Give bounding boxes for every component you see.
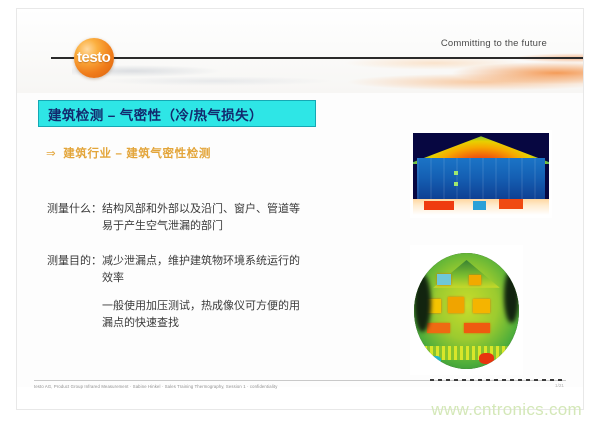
slide-content: 建筑检测 – 气密性（冷/热气损失） ⇒建筑行业 – 建筑气密性检测 测量什么：… <box>17 93 583 387</box>
paragraph-label: 测量什么： <box>47 203 102 215</box>
thermal-edge-shadow-left <box>414 274 431 332</box>
slide-subtitle-text: 建筑行业 – 建筑气密性检测 <box>63 148 211 160</box>
slide-title: 建筑检测 – 气密性（冷/热气损失） <box>39 104 263 124</box>
slide-header: testo Committing to the future <box>17 9 583 93</box>
thermal-edge-shadow-right <box>504 269 519 322</box>
thermal-window-4 <box>448 297 465 313</box>
paragraph-line2: 漏点的快速查找 <box>102 315 357 332</box>
thermal-window-7 <box>464 323 489 333</box>
thermal-image-building-roof-canvas <box>413 133 549 215</box>
presentation-slide: testo Committing to the future 建筑检测 – 气密… <box>0 0 600 424</box>
thermal-facade-coldspot <box>431 356 442 365</box>
thermal-hotspot-right <box>499 199 523 209</box>
arrow-right-icon: ⇒ <box>46 148 56 160</box>
thermal-coolspot-center <box>473 201 487 210</box>
paragraph-line1: 结构风部和外部以及沿门、窗户、管道等 <box>102 203 300 215</box>
slide-subtitle: ⇒建筑行业 – 建筑气密性检测 <box>46 145 211 161</box>
paragraph-measurement-purpose: 测量目的：减少泄漏点，维护建筑物环境系统运行的 效率 <box>47 253 357 287</box>
thermal-window-5 <box>473 299 490 313</box>
thermal-window-2 <box>469 275 482 285</box>
thermal-facade-hotspot <box>479 353 494 365</box>
thermal-image-facade-circular <box>410 245 523 375</box>
thermal-window-1 <box>437 274 451 286</box>
paragraph-label: 测量目的： <box>47 255 102 267</box>
paragraph-method-note: 一般使用加压测试，热成像仪可方便的用 漏点的快速查找 <box>47 298 357 332</box>
watermark-cntronics: www.cntronics.com <box>431 400 582 420</box>
thermal-measure-point-2 <box>454 182 458 186</box>
footer-dashed-rule <box>430 379 566 381</box>
thermal-image-facade-canvas <box>414 253 519 369</box>
header-tagline: Committing to the future <box>441 38 547 49</box>
footer-text: testo AG, Product Group Infrared Measure… <box>34 384 277 389</box>
paragraph-line2: 易于产生空气泄漏的部门 <box>102 218 357 235</box>
paragraph-what-to-measure: 测量什么：结构风部和外部以及沿门、窗户、管道等 易于产生空气泄漏的部门 <box>47 201 357 235</box>
thermal-window-6 <box>427 323 450 333</box>
paragraph-line2: 效率 <box>102 270 357 287</box>
thermal-cool-wall-region <box>417 158 545 201</box>
thermal-image-building-roof <box>410 130 552 218</box>
testo-logo-text: testo <box>77 49 147 66</box>
slide-title-box: 建筑检测 – 气密性（冷/热气损失） <box>38 100 316 127</box>
paragraph-line1: 减少泄漏点，维护建筑物环境系统运行的 <box>102 255 300 267</box>
thermal-hotspot-left <box>424 201 454 210</box>
paragraph-line1: 一般使用加压测试，热成像仪可方便的用 <box>102 298 357 315</box>
page-number: 1/21 <box>555 383 564 388</box>
thermal-measure-point-1 <box>454 171 458 175</box>
